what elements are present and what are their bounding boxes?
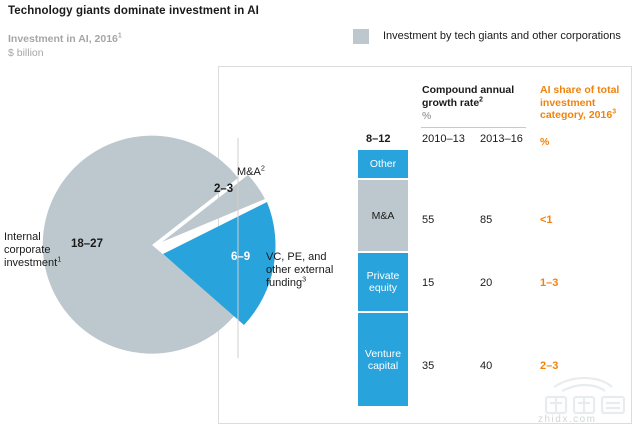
bar-segment-ma[interactable]: M&A xyxy=(358,180,408,253)
column-header-cagr: Compound annual growth rate2 xyxy=(422,84,526,109)
column-header-ai-share-units: % xyxy=(540,136,549,148)
stacked-bar-total-label: 8–12 xyxy=(366,133,390,145)
pie-label-vcpe-footnote: 3 xyxy=(302,274,306,283)
pie-label-vcpe-text: VC, PE, and other external funding xyxy=(266,251,333,289)
pie-label-ma: M&A2 xyxy=(237,166,265,179)
cell-venture-capital-cagr-2013-16: 40 xyxy=(480,360,492,372)
column-header-ai-share-footnote: 3 xyxy=(612,109,616,116)
bar-segment-venture-capital[interactable]: Venture capital xyxy=(358,313,408,406)
watermark-text: zhidx.com xyxy=(538,414,597,425)
pie-label-internal-text: Internal corporate investment xyxy=(4,231,57,269)
bar-segment-ma-label: M&A xyxy=(372,210,395,222)
pie-label-ma-text: M&A xyxy=(237,166,261,178)
column-header-cagr-footnote: 2 xyxy=(479,96,483,103)
cell-private-equity-cagr-2010-13: 15 xyxy=(422,277,434,289)
legend-label: Investment by tech giants and other corp… xyxy=(383,29,621,43)
pie-label-ma-footnote: 2 xyxy=(261,163,265,172)
subtitle-text: Investment in AI, 2016 xyxy=(8,33,118,45)
page-title: Technology giants dominate investment in… xyxy=(8,5,259,17)
cell-venture-capital-ai-share: 2–3 xyxy=(540,360,558,372)
cell-private-equity-cagr-2013-16: 20 xyxy=(480,277,492,289)
column-header-divider xyxy=(421,127,526,128)
cell-ma-cagr-2010-13: 55 xyxy=(422,214,434,226)
cell-venture-capital-cagr-2010-13: 35 xyxy=(422,360,434,372)
legend: Investment by tech giants and other corp… xyxy=(353,29,621,44)
bar-segment-other-label: Other xyxy=(370,158,396,170)
stacked-bar: Other M&A Private equity Venture capital xyxy=(358,150,408,406)
pie-value-vcpe: 6–9 xyxy=(231,251,250,264)
subtitle-units: $ billion xyxy=(8,46,122,60)
column-header-ai-share: AI share of total investment category, 2… xyxy=(540,84,636,122)
cell-private-equity-ai-share: 1–3 xyxy=(540,277,558,289)
subtitle-block: Investment in AI, 20161 $ billion xyxy=(8,32,122,60)
pie-value-internal: 18–27 xyxy=(71,238,103,251)
legend-swatch-icon xyxy=(353,29,369,44)
bar-segment-venture-capital-label: Venture capital xyxy=(358,348,408,372)
cell-ma-ai-share: <1 xyxy=(540,214,553,226)
column-header-ai-share-text: AI share of total investment category, 2… xyxy=(540,84,619,121)
pie-value-ma: 2–3 xyxy=(214,183,233,196)
bar-segment-private-equity-label: Private equity xyxy=(358,270,408,294)
bar-segment-private-equity[interactable]: Private equity xyxy=(358,253,408,313)
subtitle-investment-year: Investment in AI, 20161 xyxy=(8,32,122,46)
cell-ma-cagr-2013-16: 85 xyxy=(480,214,492,226)
column-header-cagr-text: Compound annual growth rate xyxy=(422,84,514,109)
column-header-cagr-units: % xyxy=(422,110,431,122)
pie-label-internal: Internal corporate investment1 xyxy=(4,231,76,270)
pie-label-vcpe: VC, PE, and other external funding3 xyxy=(266,251,342,290)
column-header-year-2: 2013–16 xyxy=(480,133,523,145)
column-header-year-1: 2010–13 xyxy=(422,133,465,145)
subtitle-footnote-marker: 1 xyxy=(118,33,122,40)
pie-label-internal-footnote: 1 xyxy=(57,254,61,263)
bar-segment-other[interactable]: Other xyxy=(358,150,408,180)
